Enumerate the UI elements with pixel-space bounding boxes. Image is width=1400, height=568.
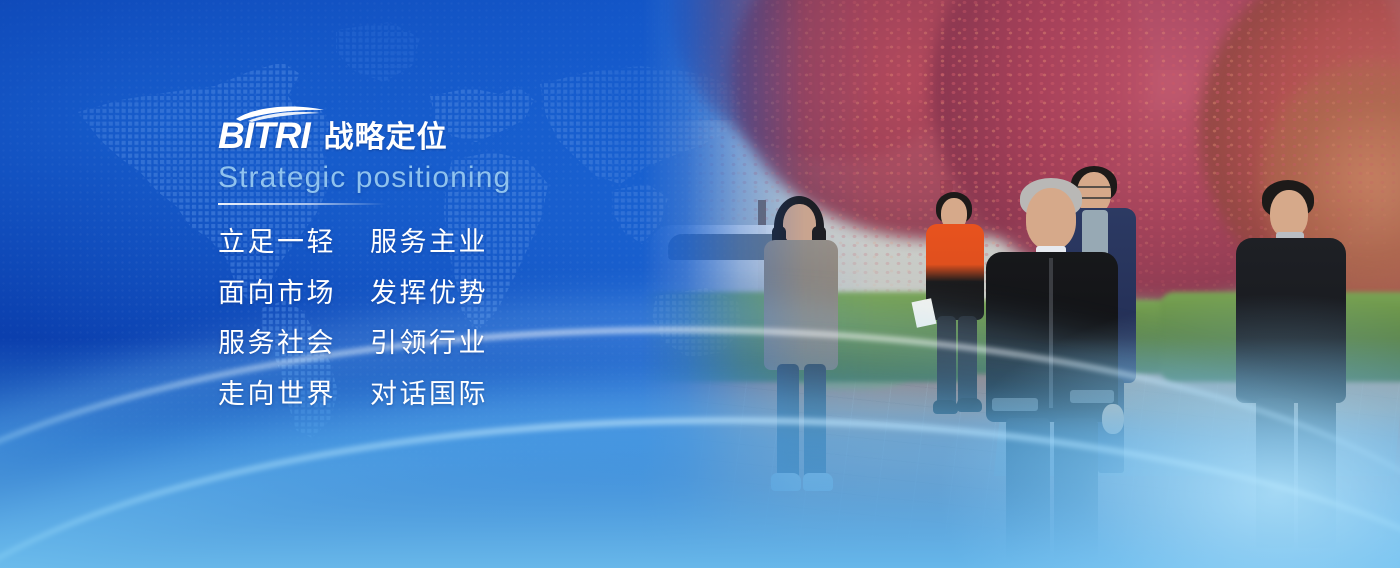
slogan-row: 服务社会 引领行业 [218,326,638,362]
slogan-row: 面向市场 发挥优势 [218,276,638,312]
slogan-left: 走向世界 [218,377,370,413]
photo-cuff-stripe [1070,390,1114,403]
page-title-zh: 战略定位 [324,123,448,154]
photo-hand [1102,404,1124,434]
slogan-left: 立足一轻 [218,225,370,261]
slogan-list: 立足一轻 服务主业 面向市场 发挥优势 服务社会 引领行业 走向世界 对话国际 [218,225,638,413]
photo-glasses-icon [1077,186,1111,199]
photo-jacket-zipper [1049,258,1053,408]
slogan-row: 立足一轻 服务主业 [218,225,638,261]
slogan-right: 发挥优势 [370,276,488,312]
slogan-right: 引领行业 [370,326,488,362]
slogan-row: 走向世界 对话国际 [218,377,638,413]
headline-block: BITRI 战略定位 Strategic positioning 立足一轻 服务… [218,108,638,413]
photo-cuff-stripe [992,398,1038,411]
title-divider [218,203,386,205]
logo-row: BITRI 战略定位 [218,108,638,154]
page-subtitle-en: Strategic positioning [218,161,638,194]
swoosh-arc-icon [234,104,326,122]
bitri-logo-text: BITRI [218,117,310,154]
slogan-right: 服务主业 [370,225,488,261]
slogan-left: 服务社会 [218,326,370,362]
slogan-right: 对话国际 [370,377,488,413]
bitri-logo[interactable]: BITRI [218,117,310,154]
strategic-positioning-banner: BITRI 战略定位 Strategic positioning 立足一轻 服务… [0,0,1400,568]
slogan-left: 面向市场 [218,276,370,312]
team-walking-photo [640,0,1400,568]
